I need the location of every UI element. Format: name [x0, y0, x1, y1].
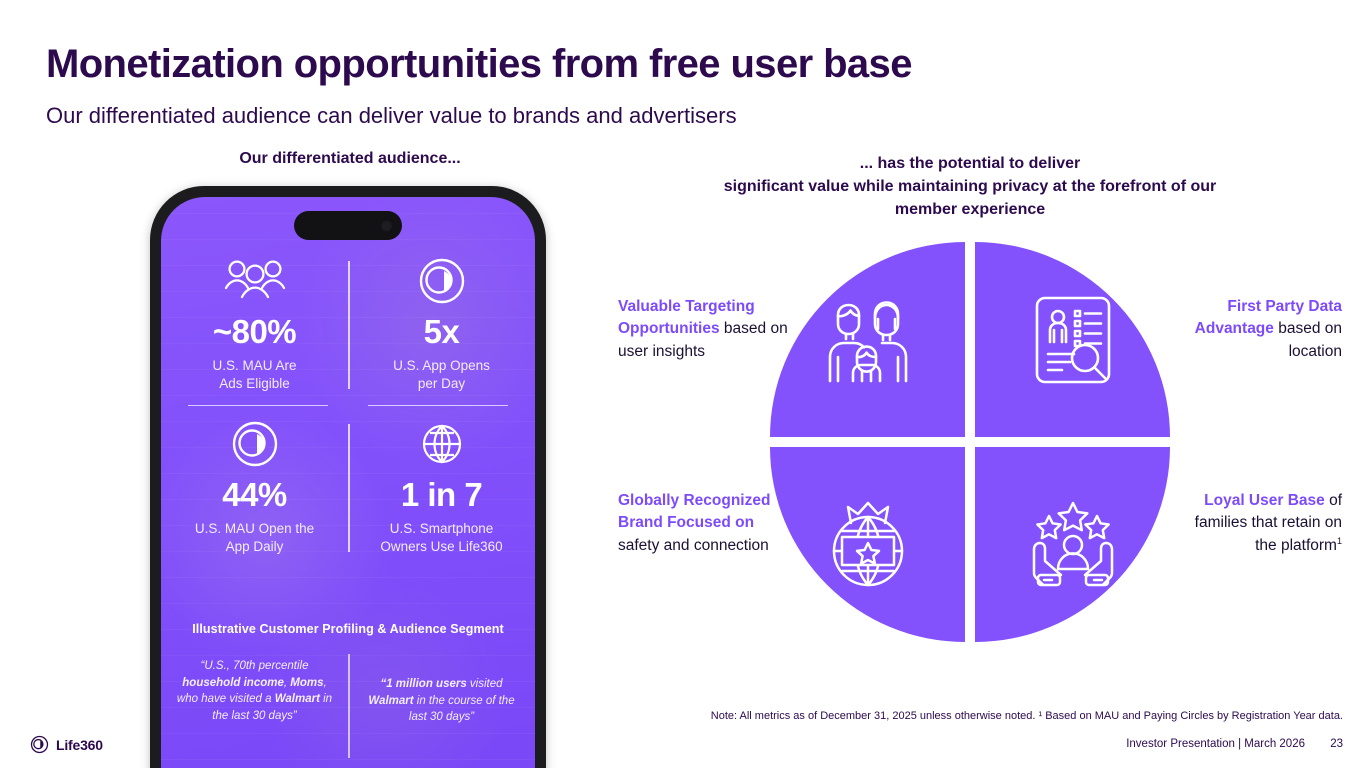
life360-pin-icon — [356, 253, 527, 309]
stat-label-line2: App Daily — [226, 539, 284, 554]
stat-label: U.S. MAU Open the App Daily — [169, 520, 340, 556]
stat-label-line1: U.S. Smartphone — [390, 521, 494, 536]
hands-stars-person-icon — [1028, 499, 1118, 591]
phone-screen: ~80% U.S. MAU Are Ads Eligible 5 — [161, 197, 535, 768]
logo-text: Life360 — [56, 737, 103, 753]
quadrant-circle — [770, 242, 1170, 642]
stat-value: 5x — [356, 315, 527, 350]
stat-label-line1: U.S. MAU Are — [212, 358, 296, 373]
front-camera-icon — [380, 219, 393, 232]
stat-label-line2: Ads Eligible — [219, 376, 290, 391]
stat-value: 44% — [169, 478, 340, 513]
quadrant-label-rest: based on location — [1274, 320, 1342, 359]
vertical-divider — [348, 654, 350, 758]
quadrant-bottom-right[interactable] — [975, 447, 1170, 642]
quadrant-top-left[interactable] — [770, 242, 965, 437]
family-people-icon — [820, 295, 916, 385]
stat-label: U.S. App Opens per Day — [356, 357, 527, 393]
stat-card-app-opens: 5x U.S. App Opens per Day — [348, 247, 535, 403]
stat-value: ~80% — [169, 315, 340, 350]
quadrant-label-highlight: Loyal User Base — [1204, 492, 1325, 509]
stat-label: U.S. Smartphone Owners Use Life360 — [356, 520, 527, 556]
phone-mockup: ~80% U.S. MAU Are Ads Eligible 5 — [150, 186, 546, 768]
stats-row-bottom: 44% U.S. MAU Open the App Daily — [161, 410, 535, 566]
profile-document-search-icon — [1031, 294, 1115, 386]
profiling-title: Illustrative Customer Profiling & Audien… — [161, 622, 535, 636]
dynamic-island-notch — [294, 211, 402, 240]
right-heading-line2: significant value while maintaining priv… — [724, 178, 1217, 195]
life360-logo: Life360 — [30, 735, 103, 754]
quadrant-label-first-party-data: First Party Data Advantage based on loca… — [1192, 296, 1342, 363]
globe-crown-star-icon — [824, 499, 912, 591]
stat-label-line1: U.S. App Opens — [393, 358, 490, 373]
quadrant-bottom-left[interactable] — [770, 447, 965, 642]
page-title: Monetization opportunities from free use… — [46, 42, 912, 87]
stat-card-mau-open-daily: 44% U.S. MAU Open the App Daily — [161, 410, 348, 566]
horizontal-divider — [161, 405, 535, 407]
right-heading-line3: member experience — [895, 201, 1045, 218]
right-heading-line1: ... has the potential to deliver — [860, 155, 1080, 172]
stats-row-top: ~80% U.S. MAU Are Ads Eligible 5 — [161, 247, 535, 403]
footnote-marker: 1 — [1337, 536, 1342, 546]
left-column-heading: Our differentiated audience... — [150, 150, 550, 168]
footer-meta: Investor Presentation | March 2026 23 — [1126, 738, 1343, 750]
stat-label-line1: U.S. MAU Open the — [195, 521, 314, 536]
stat-label-line2: Owners Use Life360 — [380, 539, 502, 554]
quadrant-label-rest: safety and connection — [618, 537, 769, 554]
stat-value: 1 in 7 — [356, 478, 527, 513]
quadrant-diagram: Valuable Targeting Opportunities based o… — [600, 240, 1360, 650]
right-column-heading: ... has the potential to deliver signifi… — [620, 152, 1320, 222]
quadrant-top-right[interactable] — [975, 242, 1170, 437]
life360-pin-icon — [30, 735, 49, 754]
page-number: 23 — [1330, 738, 1343, 750]
stat-label-line2: per Day — [418, 376, 465, 391]
stat-card-ads-eligible: ~80% U.S. MAU Are Ads Eligible — [161, 247, 348, 403]
quadrant-label-highlight: Globally Recognized Brand Focused on — [618, 492, 770, 531]
life360-pin-icon — [169, 416, 340, 472]
globe-grid-icon — [356, 416, 527, 472]
stats-grid: ~80% U.S. MAU Are Ads Eligible 5 — [161, 247, 535, 566]
quadrant-label-loyal-user-base: Loyal User Base of families that retain … — [1192, 490, 1342, 558]
footnote-note: Note: All metrics as of December 31, 202… — [0, 710, 1343, 722]
stat-label: U.S. MAU Are Ads Eligible — [169, 357, 340, 393]
footer-presentation-label: Investor Presentation | March 2026 — [1126, 738, 1305, 750]
page-subtitle: Our differentiated audience can deliver … — [46, 103, 737, 129]
stat-card-smartphone-owners: 1 in 7 U.S. Smartphone Owners Use Life36… — [348, 410, 535, 566]
group-people-icon — [169, 253, 340, 309]
